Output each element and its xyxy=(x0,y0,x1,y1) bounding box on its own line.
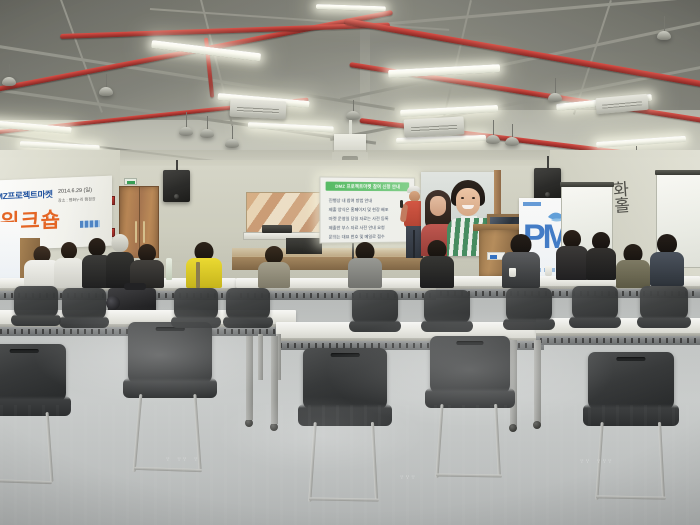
chair-seat xyxy=(298,404,392,426)
stacking-chair[interactable] xyxy=(352,290,398,348)
slide-header-text: DMZ 프로젝트마켓 참여 신청 안내 xyxy=(326,182,410,192)
chair-foot-rail xyxy=(596,495,666,499)
chair-backrest xyxy=(572,286,618,320)
chair-sled-leg xyxy=(308,422,316,502)
stacking-chair[interactable] xyxy=(303,348,387,504)
attendee-grey-tee-right xyxy=(348,242,382,288)
chair-sled-leg xyxy=(46,412,53,482)
ac-cassette-unit xyxy=(230,99,287,120)
banner-date: 2014.6.29 (일) xyxy=(58,185,92,194)
table-caster xyxy=(245,419,253,427)
stacking-chair[interactable] xyxy=(640,286,688,344)
chair-seat xyxy=(583,404,679,426)
stacking-chair[interactable] xyxy=(572,286,618,344)
bag-strap xyxy=(196,262,200,288)
emergency-exit-sign xyxy=(124,178,137,185)
banner-title: DMZ프로젝트마켓 xyxy=(0,188,52,203)
chair-sled-leg xyxy=(494,404,500,476)
chair-backrest xyxy=(588,352,674,410)
stacking-chair[interactable] xyxy=(226,288,270,344)
stage-av-equipment xyxy=(262,225,292,233)
door-handle[interactable] xyxy=(143,221,145,243)
stacking-chair[interactable] xyxy=(430,336,510,482)
attendee-torso xyxy=(186,258,222,288)
chair-sled-leg xyxy=(133,394,142,472)
screen-roller-rail xyxy=(560,182,614,187)
banner-subtitle: 장소 : 평화누리 캠핑장 xyxy=(58,196,96,204)
slide-line: 제출 양식은 홈페이지 및 현장 배포 xyxy=(329,205,409,214)
pendant-lamp xyxy=(226,126,238,148)
poster-man-face xyxy=(456,188,480,216)
ac-vent xyxy=(602,101,642,109)
ac-vent xyxy=(411,125,457,132)
video-camera-lens xyxy=(106,296,120,310)
chair-sled-leg xyxy=(435,404,443,478)
chair-handle-slot xyxy=(616,357,645,361)
chair-backrest xyxy=(640,286,688,320)
pendant-lamp xyxy=(548,78,562,102)
attendee-red-black xyxy=(556,230,588,280)
attendee-head xyxy=(112,234,129,252)
attendee-dark-grey-center xyxy=(502,234,540,288)
door-handle[interactable] xyxy=(135,221,137,243)
poster-man-eye xyxy=(472,197,475,199)
chair-handle-slot xyxy=(331,353,360,357)
pendant-lamp xyxy=(487,120,499,144)
attendee-black-far-right xyxy=(586,232,616,280)
wall-calligraphy: 화홀 xyxy=(613,181,641,219)
attendee-torso xyxy=(586,248,616,280)
chair-seat xyxy=(425,388,515,408)
attendee-black-top-right xyxy=(420,240,454,288)
chair-backrest xyxy=(424,290,470,324)
pendant-lamp xyxy=(657,16,671,40)
chair-backrest xyxy=(506,288,552,322)
ac-vent xyxy=(237,107,280,114)
attendee-torso xyxy=(420,256,454,288)
attendee-dark-top-mid xyxy=(130,244,164,288)
wall-speaker xyxy=(534,168,561,200)
chair-sled-leg xyxy=(595,422,603,500)
chair-sled-leg xyxy=(371,422,378,500)
attendee-torso xyxy=(348,258,382,288)
chair-seat xyxy=(637,316,691,328)
table-leg xyxy=(534,340,541,424)
ac-cassette-unit xyxy=(404,116,465,137)
video-camera-handle xyxy=(124,283,146,290)
chair-backrest xyxy=(303,348,387,410)
chair-seat xyxy=(0,396,71,416)
stacking-chair[interactable] xyxy=(14,286,58,342)
attendee-torso xyxy=(650,252,684,286)
attendee-torso xyxy=(54,258,84,288)
attendee-torso xyxy=(502,252,540,288)
slide-header-bar: DMZ 프로젝트마켓 참여 신청 안내 xyxy=(326,182,410,192)
chair-backrest xyxy=(352,290,398,324)
slide-line: 문의는 대표 번호 및 메일로 접수 xyxy=(329,232,409,242)
paper-cup xyxy=(545,266,552,276)
chair-sled-leg xyxy=(193,394,201,470)
attendee-head xyxy=(657,234,677,254)
wall-speaker xyxy=(163,170,190,202)
chair-seat xyxy=(349,320,401,332)
attendee-yellow-top xyxy=(186,242,222,288)
stacking-chair[interactable] xyxy=(0,344,66,494)
chair-seat xyxy=(503,318,555,330)
attendee-torso xyxy=(258,262,290,288)
slide-line: 진행상 내 참여 방법 안내 xyxy=(329,196,409,205)
attendee-dark-hair-left xyxy=(54,242,84,288)
water-bottle xyxy=(166,258,172,280)
table-caster xyxy=(509,424,517,432)
table-caster xyxy=(533,421,541,429)
chair-seat xyxy=(11,314,60,326)
attendee-torso xyxy=(616,260,650,288)
pendant-lamp xyxy=(506,124,518,146)
chair-seat xyxy=(123,378,217,398)
chair-sled-leg xyxy=(658,422,664,498)
screen-roller-rail xyxy=(655,170,700,175)
table-caster xyxy=(270,423,278,431)
chair-foot-rail xyxy=(134,467,202,472)
stage-speaker-box xyxy=(286,238,322,254)
table-leg xyxy=(271,336,278,424)
stacking-chair[interactable] xyxy=(128,322,212,474)
slide-line: 마켓 운영일 당일 자료는 사전 등록 xyxy=(329,214,409,223)
chair-seat xyxy=(59,316,108,328)
paper-cup xyxy=(509,268,516,277)
chair-seat xyxy=(421,320,473,332)
attendee-head xyxy=(89,238,106,256)
table-leg xyxy=(246,336,253,420)
pendant-lamp xyxy=(347,100,359,120)
stacking-chair[interactable] xyxy=(174,288,218,344)
attendee-olive-shirt-right xyxy=(616,244,650,288)
stacking-chair[interactable] xyxy=(588,352,674,504)
attendee-head xyxy=(61,242,77,259)
chair-backrest xyxy=(0,344,66,402)
pendant-lamp xyxy=(99,74,113,96)
chair-foot-rail xyxy=(0,479,52,484)
chair-handle-slot xyxy=(10,349,39,353)
slide-body: 진행상 내 참여 방법 안내 제출 양식은 홈페이지 및 현장 배포 마켓 운영… xyxy=(329,196,409,242)
stacking-chair[interactable] xyxy=(62,288,106,344)
chair-seat xyxy=(171,316,220,328)
seminar-room-photo: DMZ프로젝트마켓 2014.6.29 (일) 장소 : 평화누리 캠핑장 워크… xyxy=(0,0,700,525)
pendant-lamp xyxy=(2,64,16,86)
chair-seat xyxy=(223,316,272,328)
stacking-chair[interactable] xyxy=(424,290,470,348)
pendant-lamp xyxy=(200,116,214,138)
poster-woman-face xyxy=(430,196,446,216)
chair-foot-rail xyxy=(309,497,379,501)
attendee-navy-far-right xyxy=(650,234,684,286)
table-leg xyxy=(510,340,517,426)
chair-foot-rail xyxy=(436,473,502,477)
attendee-olive-top xyxy=(258,246,290,288)
handheld-microphone xyxy=(400,200,403,208)
pm-poster-header xyxy=(523,202,541,206)
chair-seat xyxy=(569,316,621,328)
stacking-chair[interactable] xyxy=(506,288,552,346)
poster-man-eye xyxy=(461,197,464,199)
attendee-torso xyxy=(556,246,588,280)
attendee-shoulder-strap xyxy=(196,262,200,288)
banner-sponsor-logo xyxy=(80,220,100,228)
pendant-lamp xyxy=(179,112,193,136)
